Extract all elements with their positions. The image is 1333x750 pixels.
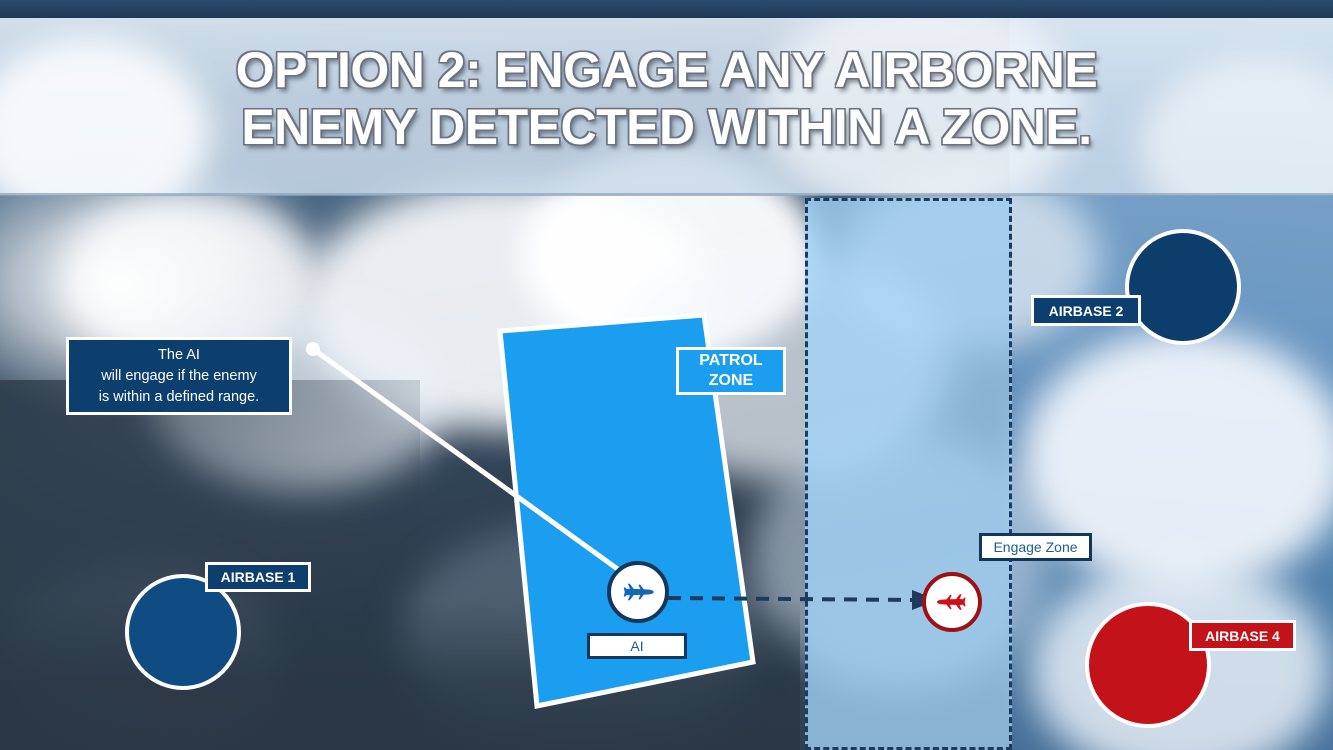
page-title-line-1: OPTION 2: ENGAGE ANY AIRBORNE: [236, 42, 1098, 98]
friendly-fighter-jet-icon[interactable]: [609, 563, 667, 621]
callout-line-2: will engage if the enemy: [101, 366, 257, 387]
airbase-1-circle[interactable]: [127, 576, 239, 688]
airbase-2-label[interactable]: AIRBASE 2: [1031, 295, 1141, 326]
header-divider: [0, 193, 1333, 196]
patrol-zone-label[interactable]: PATROL ZONE: [676, 347, 786, 395]
airbase-1-label[interactable]: AIRBASE 1: [205, 562, 311, 592]
callout-line-1: The AI: [158, 345, 200, 366]
ai-behaviour-callout: The AI will engage if the enemy is withi…: [66, 337, 292, 415]
page-title-line-2: ENEMY DETECTED WITHIN A ZONE.: [0, 99, 1333, 156]
patrol-zone-label-line-2: ZONE: [709, 371, 753, 391]
airbase-4-label[interactable]: AIRBASE 4: [1189, 620, 1296, 651]
patrol-zone-label-line-1: PATROL: [699, 351, 762, 371]
enemy-fighter-jet-icon[interactable]: [924, 574, 980, 630]
top-accent-bar: [0, 0, 1333, 18]
callout-line-3: is within a defined range.: [99, 387, 259, 408]
engage-zone-label[interactable]: Engage Zone: [979, 533, 1092, 561]
ai-unit-label[interactable]: AI: [587, 633, 687, 659]
presentation-slide: OPTION 2: ENGAGE ANY AIRBORNE ENEMY DETE…: [0, 0, 1333, 750]
airbase-2-circle[interactable]: [1127, 231, 1239, 343]
page-title: OPTION 2: ENGAGE ANY AIRBORNE ENEMY DETE…: [0, 42, 1333, 156]
